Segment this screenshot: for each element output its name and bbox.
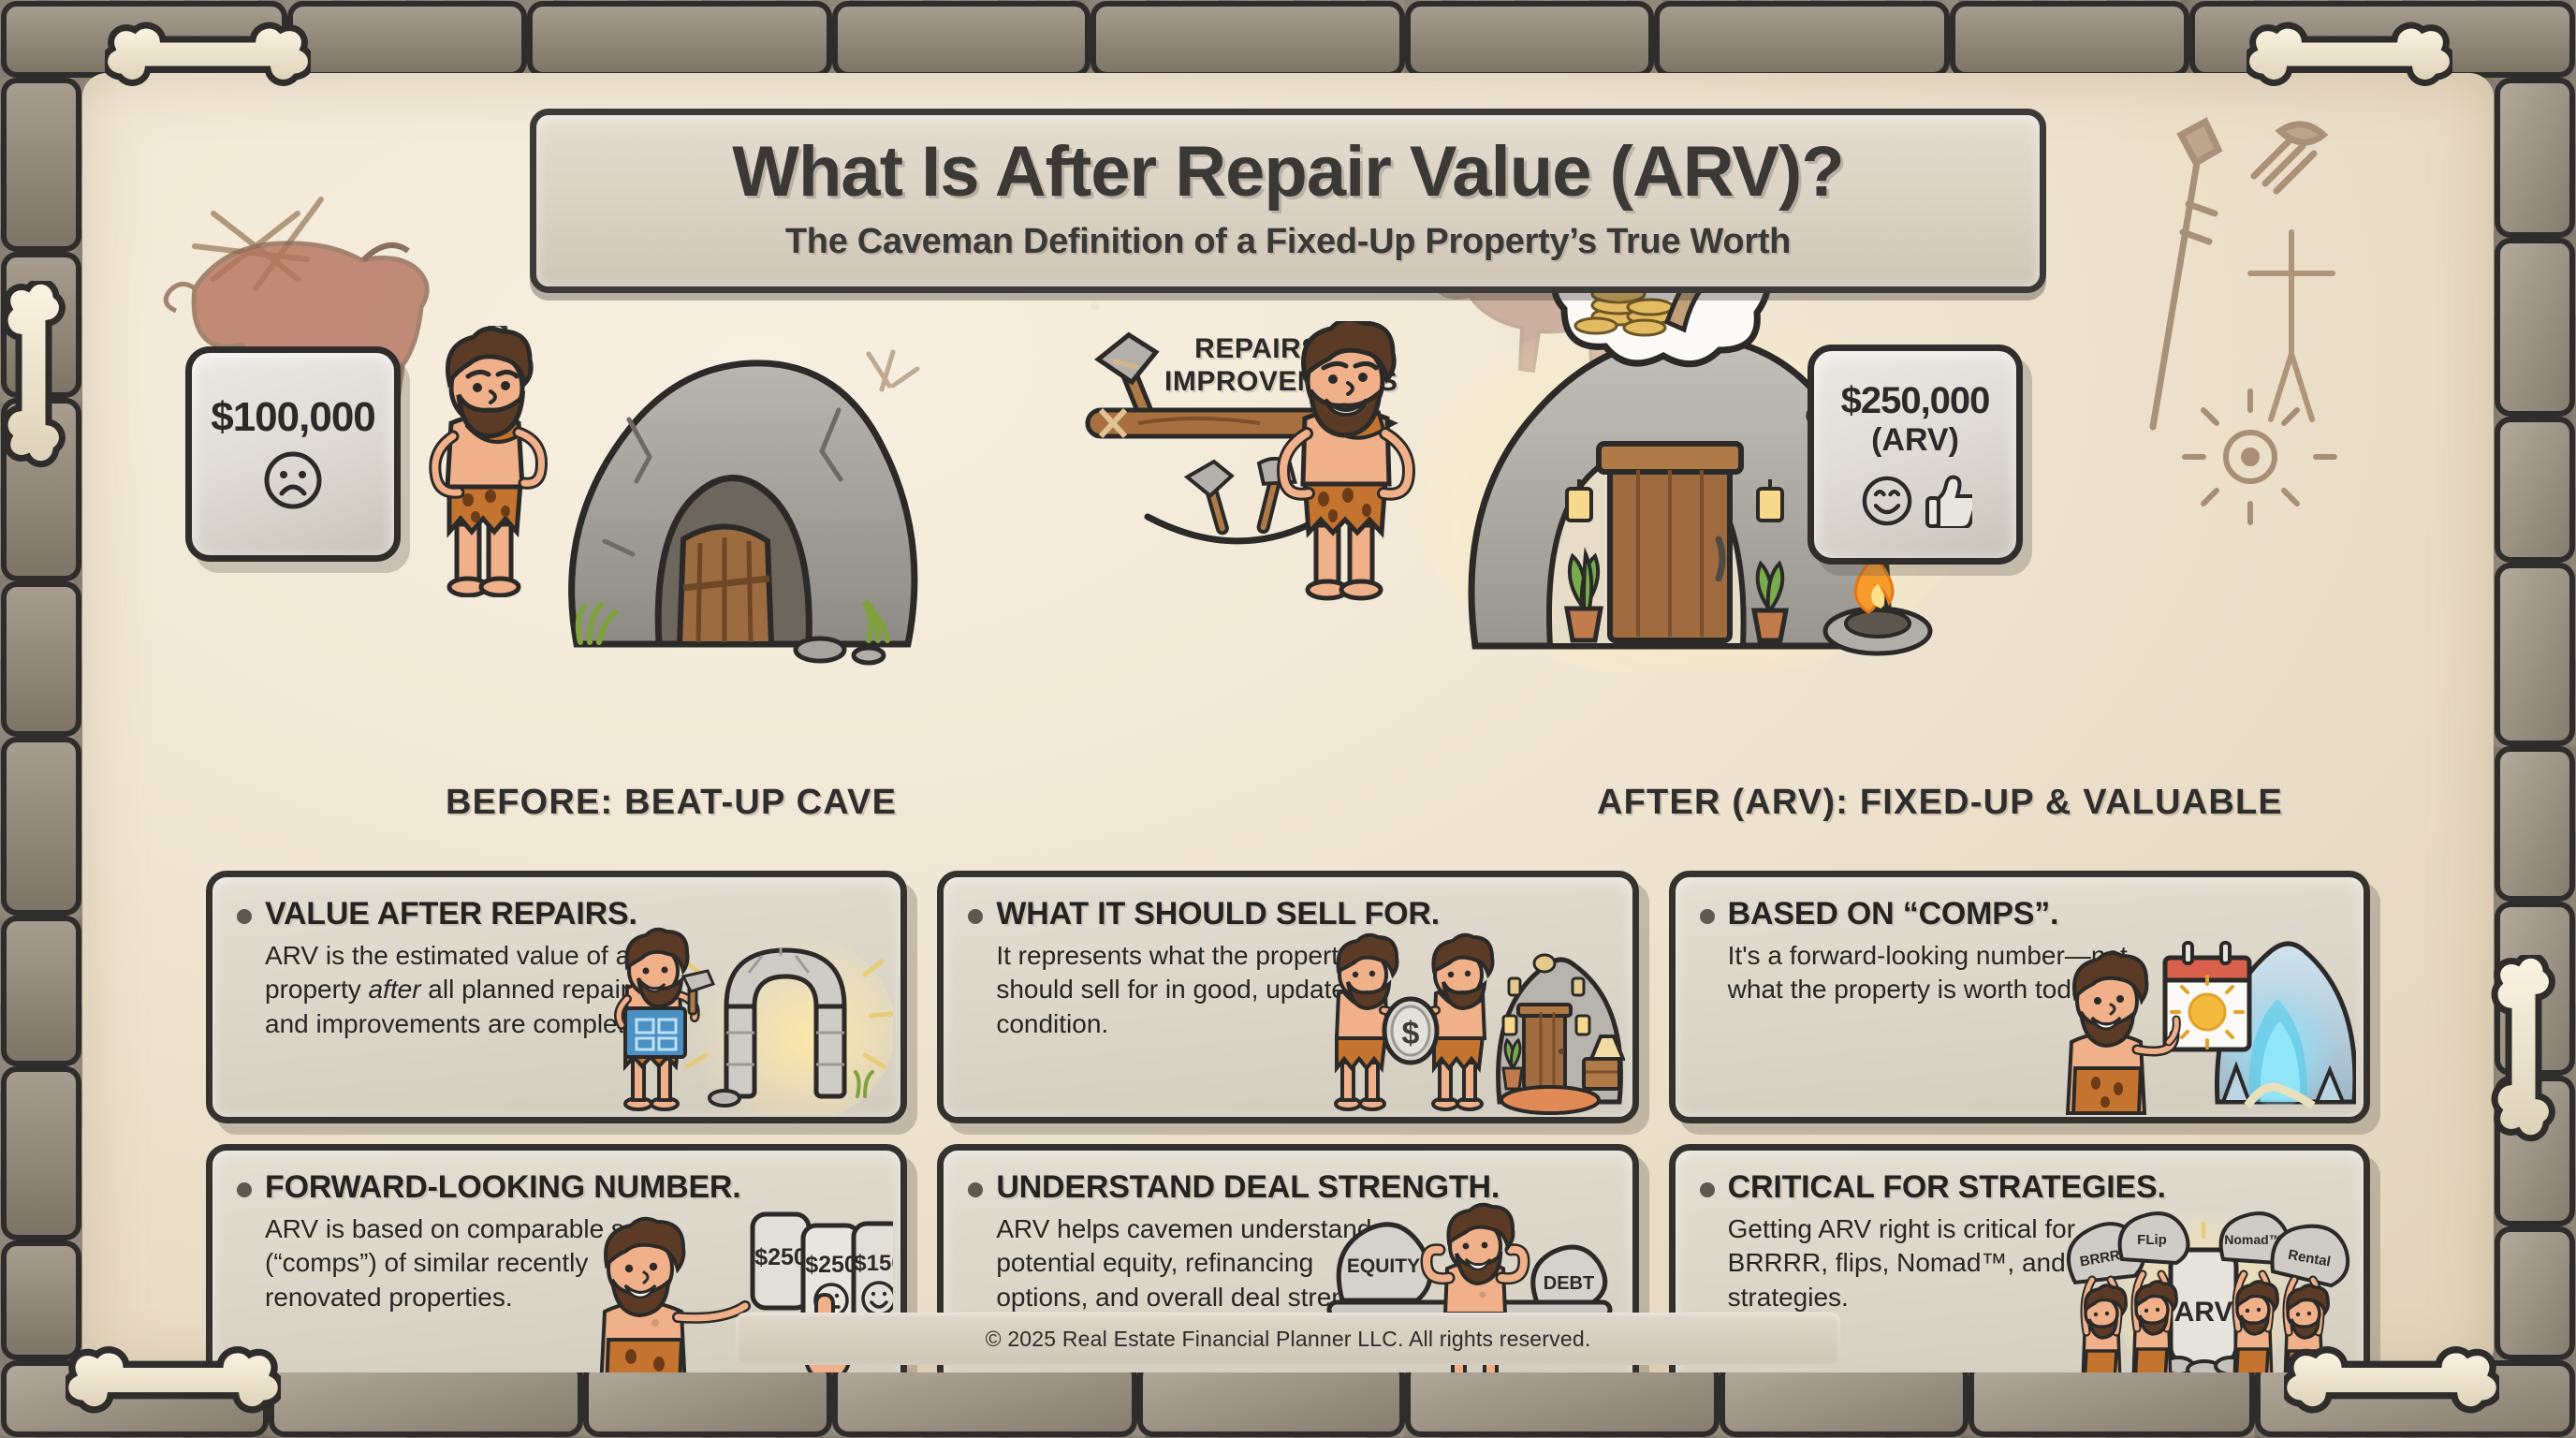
card-body: It represents what the property should s… [968, 939, 1408, 1041]
sad-face-icon [259, 447, 327, 514]
card-title: VALUE AFTER REPAIRS. [265, 896, 637, 932]
card-what-it-should-sell-for[interactable]: WHAT IT SHOULD SELL FOR. It represents w… [937, 871, 1638, 1123]
bullet-icon [968, 909, 983, 924]
caveman-right-figure [1398, 935, 1493, 1109]
strategy-stone-rental: Rental [2269, 1220, 2353, 1288]
happy-face-icon [1858, 472, 1916, 530]
before-scene-label: BEFORE: BEAT-UP CAVE [446, 783, 897, 823]
before-price-value: $100,000 [211, 394, 375, 441]
strategy-stone-nomad: Nomad™ [2221, 1213, 2290, 1263]
arv-center-label: ARV [2174, 1297, 2233, 1328]
debt-label: DEBT [1543, 1273, 1593, 1294]
fact-card-grid: VALUE AFTER REPAIRS. ARV is the estimate… [206, 871, 2370, 1372]
after-price-stone: $250,000 (ARV) [1808, 345, 2023, 565]
comp-tablet-2-price: $250 [806, 1252, 858, 1278]
card-header: CRITICAL FOR STRATEGIES. [1700, 1169, 2343, 1205]
mini-caveman-2 [2133, 1274, 2176, 1372]
card-title: UNDERSTAND DEAL STRENGTH. [996, 1169, 1500, 1205]
neutral-face-icon [815, 1284, 847, 1316]
card-based-on-comps[interactable]: BASED ON “COMPS”. It's a forward-looking… [1669, 871, 2370, 1123]
parchment-panel: What Is After Repair Value (ARV)? The Ca… [82, 73, 2494, 1372]
bullet-icon [237, 1182, 252, 1197]
bullet-icon [968, 1182, 983, 1197]
before-price-stone: $100,000 [185, 346, 401, 562]
comp-tablet-1: $250 [753, 1214, 809, 1308]
card-title: FORWARD-LOOKING NUMBER. [265, 1169, 741, 1205]
copyright-text: © 2025 Real Estate Financial Planner LLC… [986, 1327, 1591, 1352]
card-header: VALUE AFTER REPAIRS. [237, 896, 880, 932]
bullet-icon [1700, 1182, 1715, 1197]
svg-text:FLip: FLip [2137, 1232, 2167, 1248]
small-hammer-icon-1 [1185, 458, 1246, 538]
card-header: UNDERSTAND DEAL STRENGTH. [968, 1169, 1611, 1205]
hero-scene: $100,000 ? [165, 307, 2411, 841]
after-price-note: (ARV) [1871, 422, 1959, 459]
card-body: ARV helps cavemen understand potential e… [968, 1212, 1408, 1314]
card-header: BASED ON “COMPS”. [1700, 896, 2343, 932]
happy-face-icon [863, 1283, 893, 1314]
caveman-after-figure [1251, 321, 1438, 602]
after-price-value: $250,000 [1841, 380, 1990, 422]
footer-bar: © 2025 Real Estate Financial Planner LLC… [736, 1313, 1840, 1365]
hand-hammer-icon [683, 971, 713, 1014]
card-title: CRITICAL FOR STRATEGIES. [1728, 1169, 2166, 1205]
card-header: FORWARD-LOOKING NUMBER. [237, 1169, 880, 1205]
card-body: It's a forward-looking number—not what t… [1700, 939, 2140, 1007]
page-subtitle: The Caveman Definition of a Fixed-Up Pro… [574, 222, 2002, 262]
emphasis-after: after [369, 975, 421, 1004]
card-body: ARV is the estimated value of a property… [237, 939, 677, 1041]
card-title: BASED ON “COMPS”. [1728, 896, 2059, 932]
mini-caveman-4 [2285, 1280, 2328, 1372]
wall-lantern-icons [1503, 955, 1589, 1034]
svg-text:Rental: Rental [2287, 1247, 2332, 1270]
comp-tablet-3-price: $150 [855, 1251, 894, 1276]
bullet-icon [237, 909, 252, 924]
arv-monolith: ARV [2163, 1224, 2246, 1372]
mini-caveman-3 [2234, 1274, 2277, 1372]
after-scene-label: AFTER (ARV): FIXED-UP & VALUABLE [1597, 783, 2283, 823]
card-header: WHAT IT SHOULD SELL FOR. [968, 896, 1611, 932]
calendar-icon [2165, 943, 2249, 1049]
svg-text:Nomad™: Nomad™ [2224, 1232, 2281, 1247]
bullet-icon [1700, 909, 1715, 924]
thumbs-up-icon [1925, 474, 1972, 528]
title-plaque: What Is After Repair Value (ARV)? The Ca… [530, 109, 2046, 293]
page-title: What Is After Repair Value (ARV)? [574, 136, 2002, 209]
comp-tablet-1-price: $250 [755, 1244, 808, 1270]
card-body: ARV is based on comparable sales (“comps… [237, 1212, 677, 1314]
before-cave-illustration [539, 307, 942, 682]
debt-weight-stone: DEBT [1532, 1247, 1604, 1302]
card-title: WHAT IT SHOULD SELL FOR. [996, 896, 1440, 932]
card-body: Getting ARV right is critical for BRRRR,… [1700, 1212, 2140, 1314]
infographic-canvas: What Is After Repair Value (ARV)? The Ca… [0, 0, 2576, 1438]
card-value-after-repairs[interactable]: VALUE AFTER REPAIRS. ARV is the estimate… [206, 871, 907, 1123]
